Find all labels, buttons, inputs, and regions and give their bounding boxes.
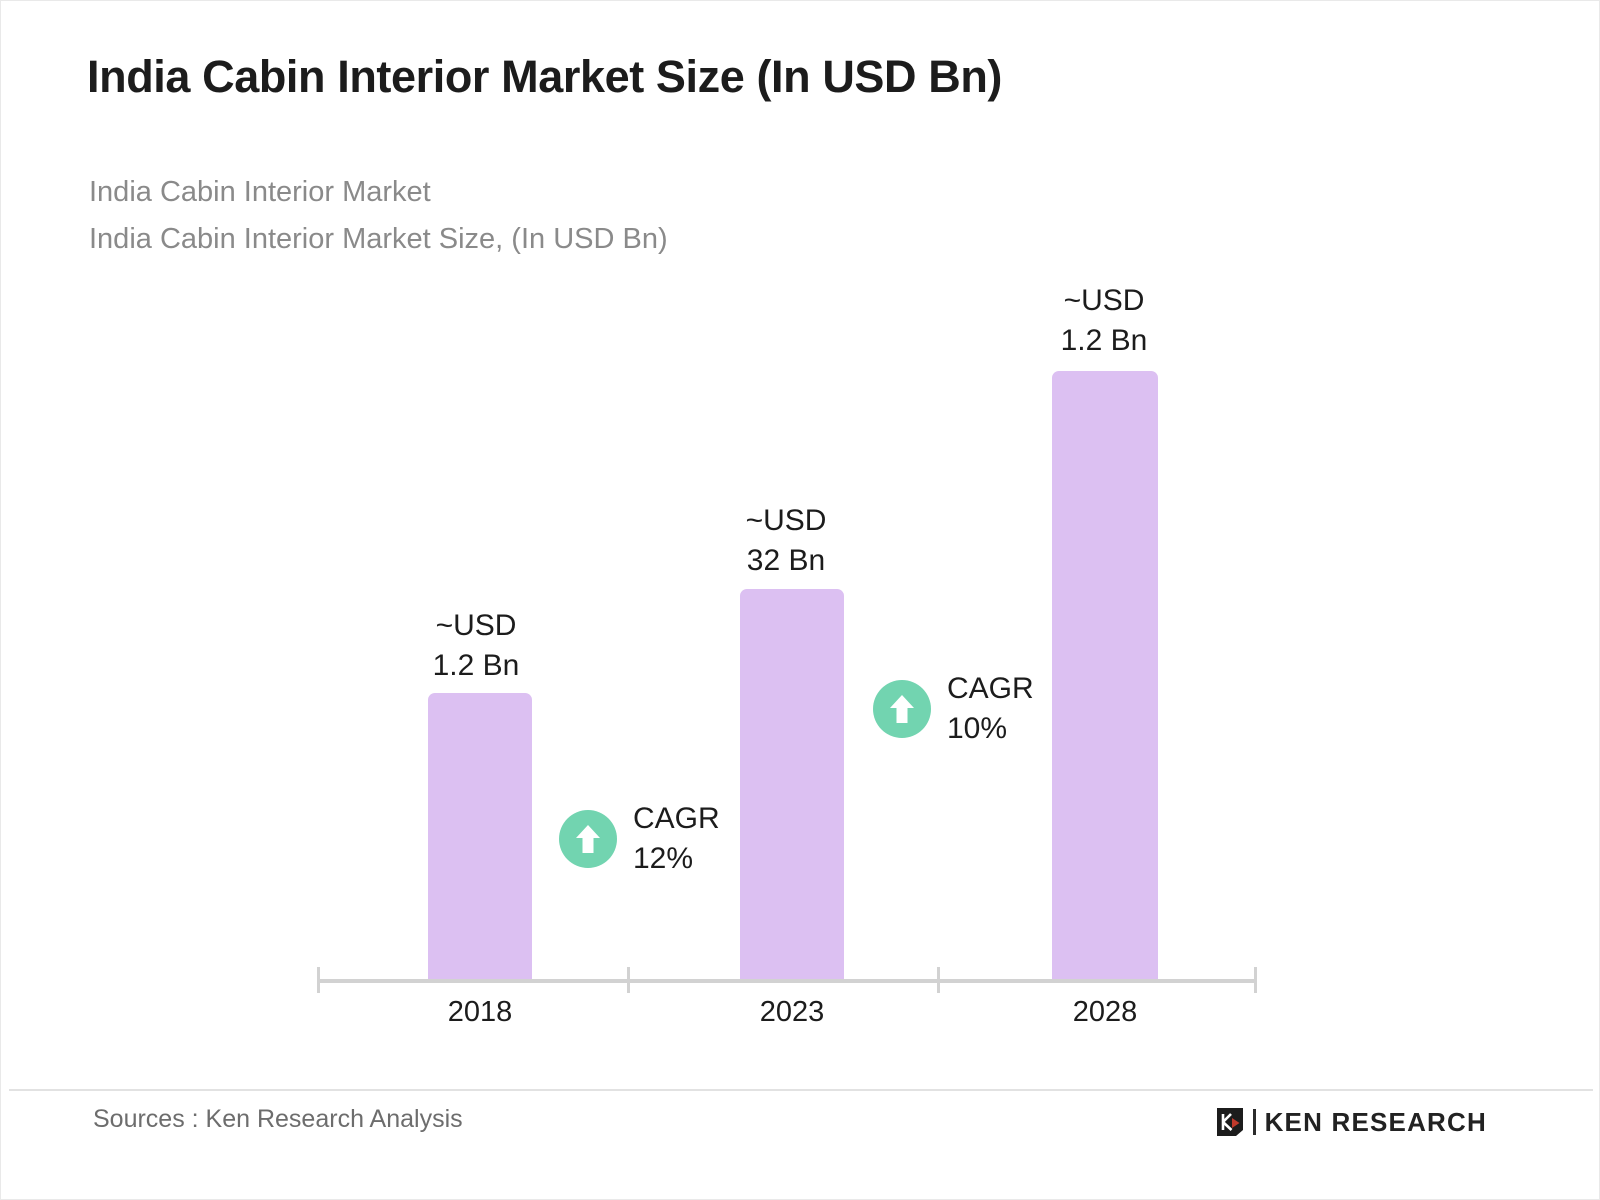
x-axis-tick-2 [937,967,940,993]
cagr-text-2: CAGR 10% [947,669,1034,749]
bar-value-label-2023: ~USD 32 Bn [696,501,876,581]
slide-root: India Cabin Interior Market Size (In USD… [0,0,1600,1200]
x-axis-line [317,979,1257,983]
footer-divider [9,1089,1593,1091]
bar-2028[interactable] [1052,371,1158,981]
x-axis-label-2023: 2023 [702,996,882,1029]
x-axis-tick-end [1254,967,1257,993]
logo-wordmark: KEN RESEARCH [1265,1107,1487,1138]
x-axis-tick-1 [627,967,630,993]
bar-value-label-2028-line2: 1.2 Bn [1014,321,1194,361]
ken-research-logo-mark [1215,1107,1245,1137]
bar-value-label-2018: ~USD 1.2 Bn [386,606,566,686]
cagr-value-2: 10% [947,709,1034,749]
cagr-label-1: CAGR [633,799,720,839]
bar-2018[interactable] [428,693,532,981]
bar-chart: ~USD 1.2 Bn ~USD 32 Bn ~USD 1.2 Bn CAGR … [1,1,1600,1061]
bar-value-label-2028-line1: ~USD [1014,281,1194,321]
x-axis-label-2018: 2018 [390,996,570,1029]
logo-divider [1253,1109,1256,1135]
ken-research-logo: KEN RESEARCH [1215,1105,1487,1139]
x-axis-tick-start [317,967,320,993]
arrow-up-icon [559,810,617,868]
cagr-text-1: CAGR 12% [633,799,720,879]
cagr-annotation-2: CAGR 10% [873,669,1034,749]
bar-value-label-2018-line2: 1.2 Bn [386,646,566,686]
bar-2023[interactable] [740,589,844,981]
source-text: Sources : Ken Research Analysis [93,1105,463,1134]
cagr-annotation-1: CAGR 12% [559,799,720,879]
bar-value-label-2023-line1: ~USD [696,501,876,541]
cagr-value-1: 12% [633,839,720,879]
bar-value-label-2018-line1: ~USD [386,606,566,646]
bar-value-label-2028: ~USD 1.2 Bn [1014,281,1194,361]
x-axis-label-2028: 2028 [1015,996,1195,1029]
cagr-label-2: CAGR [947,669,1034,709]
bar-value-label-2023-line2: 32 Bn [696,541,876,581]
arrow-up-icon [873,680,931,738]
